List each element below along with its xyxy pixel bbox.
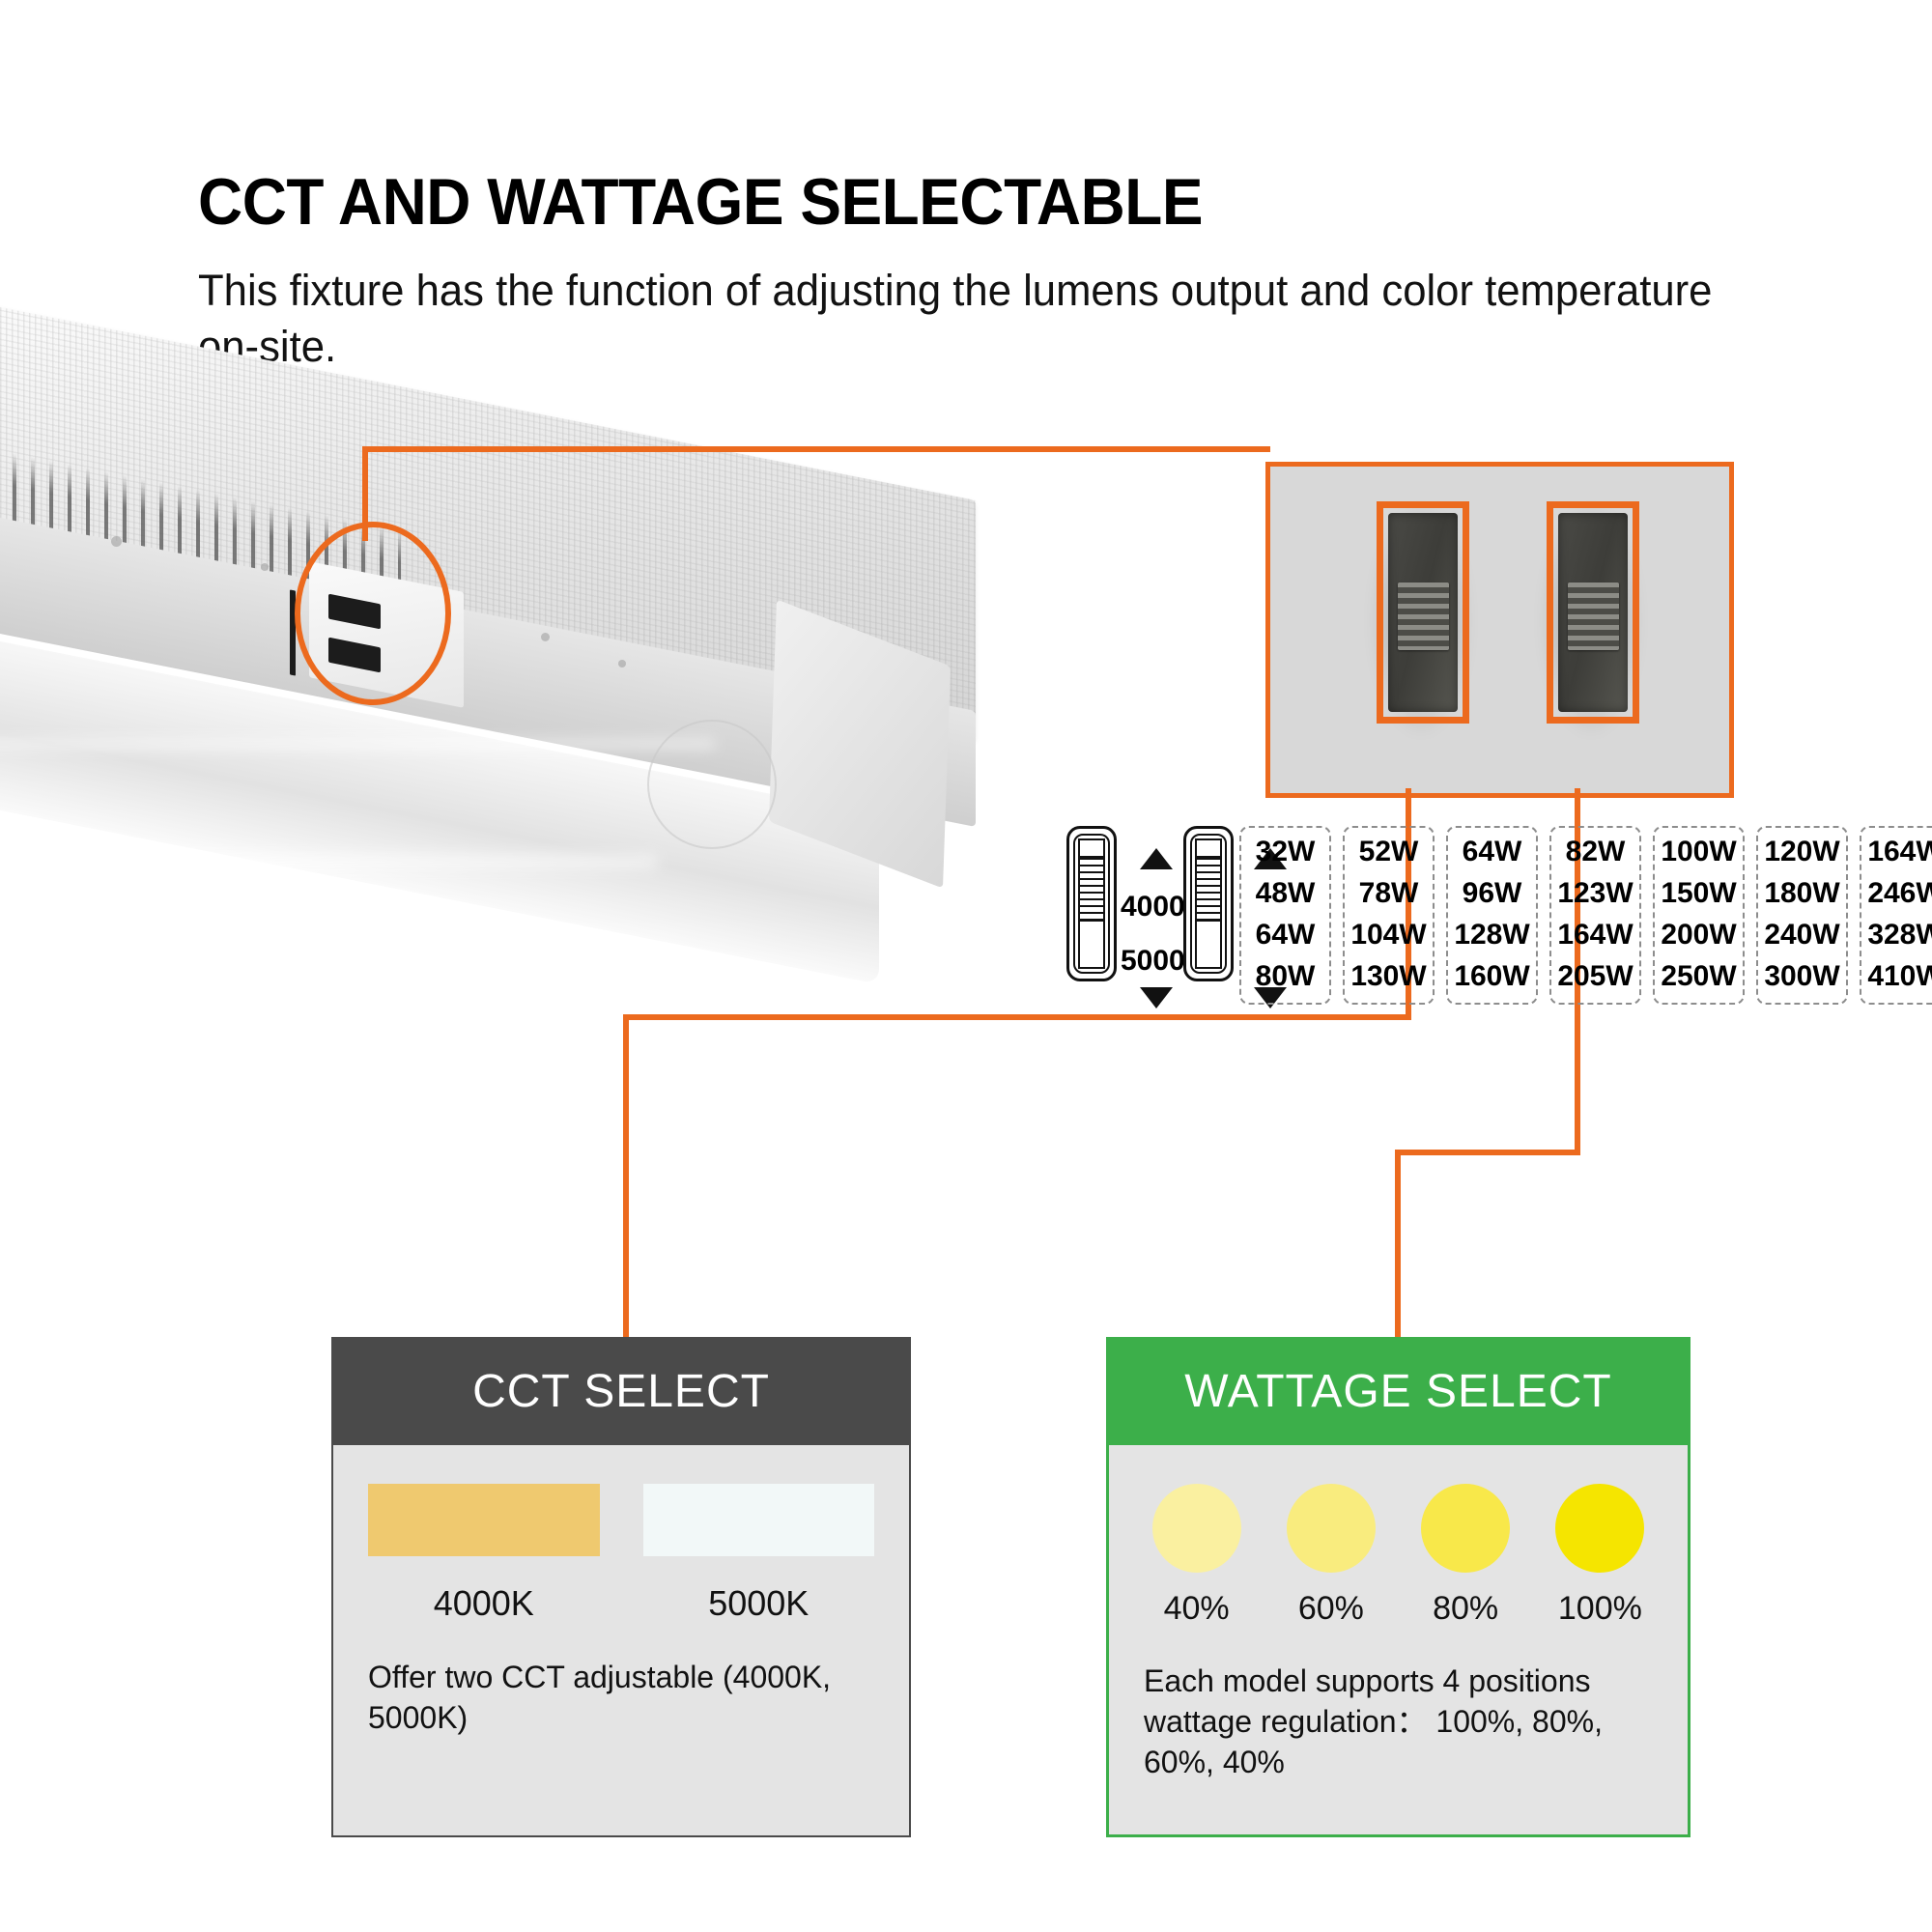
connector-wattage-down-2 [1395,1150,1401,1337]
wattage-panel-note: Each model supports 4 positions wattage … [1144,1661,1653,1783]
cct-panel-title: CCT SELECT [472,1365,770,1418]
wattage-level-row: 40% 60% 80% 100% [1144,1484,1653,1628]
switch-body-1 [1388,513,1458,712]
connector-wattage-horizontal [1395,1150,1580,1155]
wattage-cell: 48W [1256,879,1316,908]
page-subtitle: This fixture has the function of adjusti… [198,263,1716,374]
wattage-level-80[interactable]: 80% [1413,1484,1519,1628]
wattage-cell: 78W [1359,879,1419,908]
wattage-level-60-label: 60% [1278,1590,1383,1628]
cct-option-5000k[interactable]: 5000K [643,1484,875,1624]
connector-cct-horizontal [623,1014,1411,1020]
wattage-cell: 150W [1661,879,1736,908]
wattage-panel-title: WATTAGE SELECT [1184,1365,1611,1418]
wattage-cell: 120W [1764,838,1839,867]
cct-swatch-4000k-label: 4000K [368,1583,600,1624]
dip-switch-callout-circle [295,522,451,705]
wattage-column-300w: 120W 180W 240W 300W [1756,826,1848,1005]
wattage-column-250w: 100W 150W 200W 250W [1653,826,1745,1005]
wattage-level-40-label: 40% [1144,1590,1249,1628]
wattage-cell: 250W [1661,962,1736,991]
fixture-screw-3 [541,633,550,641]
wattage-cell: 128W [1454,921,1529,950]
wattage-cell: 52W [1359,838,1419,867]
dip-switch-closeup-box [1265,462,1734,798]
cct-swatch-5000k [643,1484,875,1556]
wattage-column-130w: 52W 78W 104W 130W [1343,826,1435,1005]
fixture-screw-2 [261,563,269,571]
switch-ridges-2 [1568,582,1619,650]
wattage-cell: 164W [1867,838,1932,867]
wattage-cell: 200W [1661,921,1736,950]
wattage-cell: 240W [1764,921,1839,950]
wattage-cell: 64W [1463,838,1522,867]
cct-dip-switch[interactable] [1066,826,1117,981]
switch-ridges-1 [1398,582,1449,650]
wattage-cell: 300W [1764,962,1839,991]
cct-arrow-down-icon [1140,987,1173,1009]
wattage-dot-80-icon [1421,1484,1510,1573]
connector-callout-horizontal [362,446,1270,452]
fixture-highlight-1 [0,739,715,749]
product-photo-led-high-bay [0,401,1082,1019]
connector-cct-down-2 [623,1014,629,1337]
wattage-cell: 64W [1256,921,1316,950]
wattage-cell: 104W [1350,921,1426,950]
page-title: CCT AND WATTAGE SELECTABLE [198,164,1203,240]
wattage-column-410w: 164W 246W 328W 410W [1860,826,1932,1005]
cct-swatch-4000k [368,1484,600,1556]
cct-panel-header: CCT SELECT [331,1337,911,1445]
fixture-highlight-2 [58,855,657,868]
wattage-dot-40-icon [1152,1484,1241,1573]
wattage-cell: 100W [1661,838,1736,867]
cct-swatch-5000k-label: 5000K [643,1583,875,1624]
wattage-cell: 164W [1557,921,1633,950]
wattage-cell: 123W [1557,879,1633,908]
wattage-dot-60-icon [1287,1484,1376,1573]
wattage-cell: 410W [1867,962,1932,991]
wattage-level-40[interactable]: 40% [1144,1484,1249,1628]
infographic-canvas: CCT AND WATTAGE SELECTABLE This fixture … [0,0,1932,1932]
wattage-column-160w: 64W 96W 128W 160W [1446,826,1538,1005]
fixture-screw-1 [111,536,122,547]
fixture-knockout-circle [647,720,777,849]
cct-select-panel: CCT SELECT 4000K 5000K Offer two CCT adj… [331,1337,911,1837]
wattage-cell: 180W [1764,879,1839,908]
cct-swatch-row: 4000K 5000K [368,1484,874,1624]
cct-selector-switch[interactable] [1377,501,1469,724]
wattage-selector-switch[interactable] [1547,501,1639,724]
wattage-cell: 82W [1566,838,1626,867]
wattage-column-205w: 82W 123W 164W 205W [1549,826,1641,1005]
wattage-cell: 328W [1867,921,1932,950]
wattage-select-panel: WATTAGE SELECT 40% 60% 80% 100% [1106,1337,1690,1837]
switch-body-2 [1558,513,1628,712]
wattage-dot-100-icon [1555,1484,1644,1573]
wattage-column-80w: 32W 48W 64W 80W [1239,826,1331,1005]
cct-arrow-up-icon [1140,848,1173,869]
wattage-level-80-label: 80% [1413,1590,1519,1628]
fixture-screw-4 [618,660,626,668]
wattage-cell: 80W [1256,962,1316,991]
cct-dip-lever [1078,856,1105,922]
cct-panel-body: 4000K 5000K Offer two CCT adjustable (40… [331,1445,911,1837]
cct-panel-note: Offer two CCT adjustable (4000K, 5000K) [368,1657,874,1738]
wattage-cell: 96W [1463,879,1522,908]
wattage-cell: 205W [1557,962,1633,991]
wattage-dip-switch[interactable] [1183,826,1234,981]
wattage-level-100[interactable]: 100% [1548,1484,1653,1628]
wattage-cell: 32W [1256,838,1316,867]
wattage-level-100-label: 100% [1548,1590,1653,1628]
wattage-dip-lever [1195,856,1222,922]
connector-callout-vertical [362,446,368,541]
wattage-panel-header: WATTAGE SELECT [1106,1337,1690,1445]
wattage-cell: 130W [1350,962,1426,991]
wattage-panel-body: 40% 60% 80% 100% Each model supports 4 p… [1106,1445,1690,1837]
cct-option-4000k[interactable]: 4000K [368,1484,600,1624]
wattage-cell: 246W [1867,879,1932,908]
wattage-level-60[interactable]: 60% [1278,1484,1383,1628]
wattage-table: 32W 48W 64W 80W 52W 78W 104W 130W 64W 96… [1239,826,1932,1005]
wattage-cell: 160W [1454,962,1529,991]
